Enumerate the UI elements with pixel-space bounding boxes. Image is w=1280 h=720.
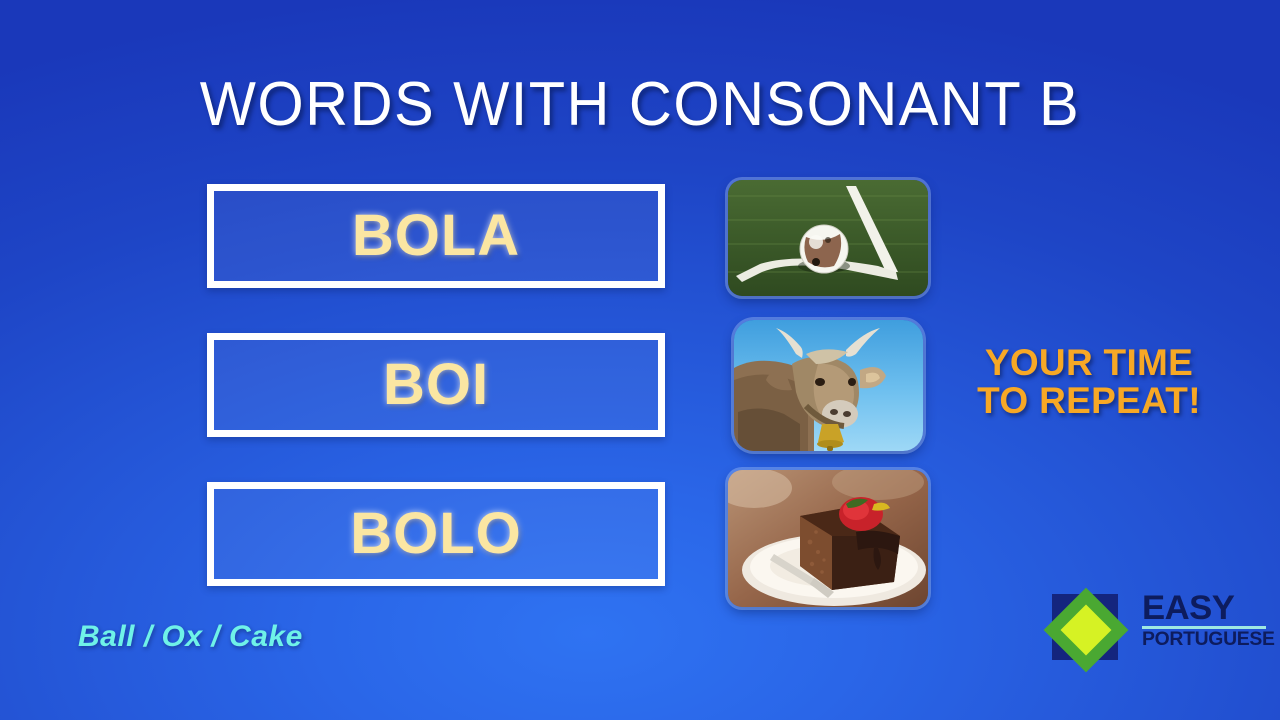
word-label: BOLA <box>352 207 520 265</box>
cta-line-1: YOUR TIME <box>985 342 1193 383</box>
word-label: BOI <box>383 356 489 414</box>
logo-wordmark: EASY PORTUGUESE <box>1142 592 1268 649</box>
word-box-bola[interactable]: BOLA <box>207 184 665 288</box>
brown-cow-with-bell-photo <box>734 320 923 451</box>
chocolate-cake-slice-photo <box>728 470 928 607</box>
call-to-action: YOUR TIME TO REPEAT! <box>944 344 1234 420</box>
translation-line: Ball / Ox / Cake <box>78 620 303 654</box>
soccer-ball-on-field-photo <box>728 180 928 296</box>
logo-primary-text: EASY <box>1142 592 1271 625</box>
green-diamond-logo-mark <box>1038 584 1134 680</box>
word-box-boi[interactable]: BOI <box>207 333 665 437</box>
word-box-bolo[interactable]: BOLO <box>207 482 665 586</box>
lesson-slide: WORDS WITH CONSONANT B BOLA BOI BOLO <box>0 0 1280 720</box>
word-label: BOLO <box>350 505 522 563</box>
cta-line-2: TO REPEAT! <box>944 382 1234 420</box>
page-title: WORDS WITH CONSONANT B <box>26 74 1255 136</box>
easy-portuguese-logo: EASY PORTUGUESE <box>1038 584 1266 680</box>
logo-secondary-text: PORTUGUESE <box>1142 630 1271 649</box>
